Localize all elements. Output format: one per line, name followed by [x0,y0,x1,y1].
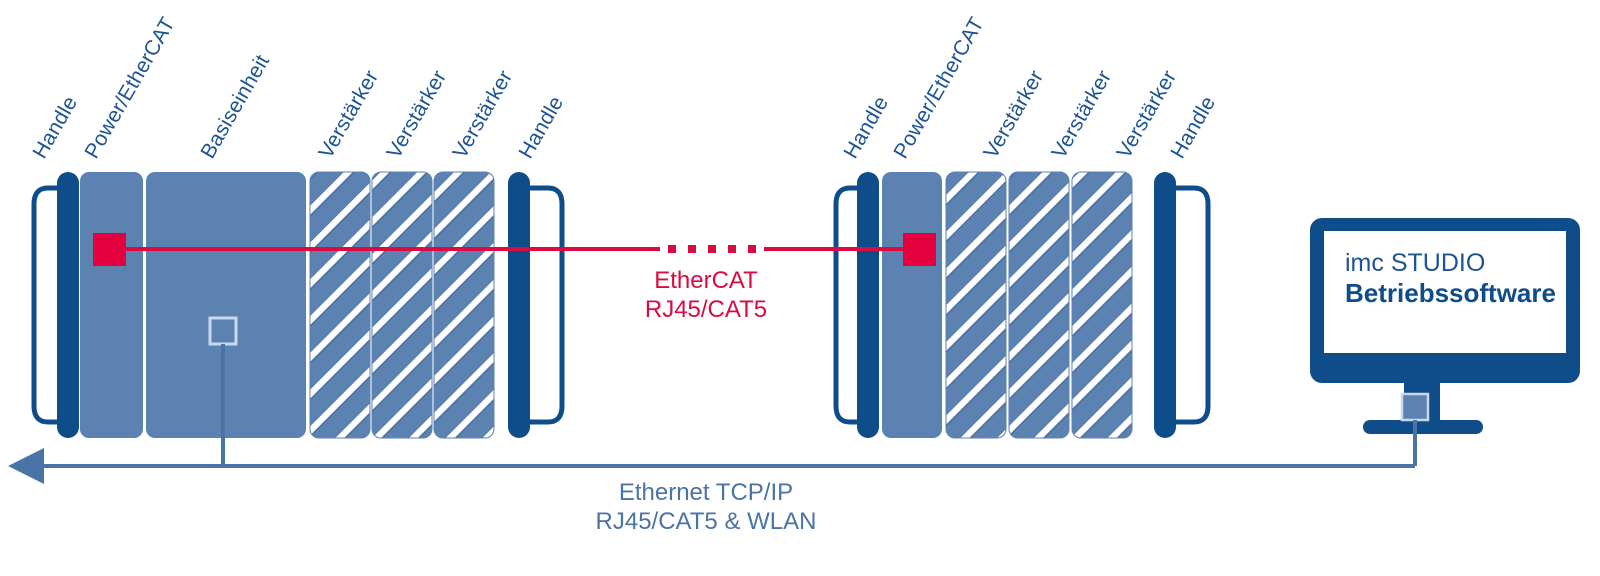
module-verstaerker-3[interactable] [1072,172,1132,438]
ethernet-label-line1: Ethernet TCP/IP [619,479,793,506]
handle-grip-loop-right [1176,188,1208,422]
module-label-power-ethercat: Power/EtherCAT [889,13,988,162]
module-label-handle: Handle [28,92,82,162]
monitor[interactable]: imc STUDIO Betriebssoftware [1310,218,1580,434]
module-label-basiseinheit: Basiseinheit [196,51,274,163]
ethercat-dot [688,245,696,253]
module-power-ethercat[interactable] [80,172,143,438]
module-label-handle: Handle [839,92,893,162]
module-verstaerker-2[interactable] [1009,172,1069,438]
ethercat-connector-right[interactable] [903,233,936,266]
handle-grip-loop-right [530,188,562,422]
module-label-handle-right: Handle [514,92,568,162]
screen-text-line1: imc STUDIO [1345,249,1485,277]
module-label-handle-right: Handle [1166,92,1220,162]
module-label-verstaerker-1: Verstärker [314,66,383,162]
handle-bar-left[interactable] [857,172,879,438]
module-verstaerker-1[interactable] [946,172,1006,438]
label-group-left-block: Handle Power/EtherCAT Basiseinheit Verst… [28,13,568,162]
module-label-verstaerker-2: Verstärker [382,66,451,162]
screen-text-line2: Betriebssoftware [1345,278,1556,308]
module-verstaerker-1[interactable] [310,172,370,438]
handle-bar-right[interactable] [1154,172,1176,438]
ethernet-label-line2: RJ45/CAT5 & WLAN [596,508,817,535]
ethercat-dot [748,245,756,253]
ethercat-connector-left[interactable] [93,233,126,266]
handle-bar-left[interactable] [57,172,79,438]
handle-bar-right[interactable] [508,172,530,438]
network-port-icon[interactable] [1402,394,1428,420]
ethernet-arrowhead-icon [8,448,44,484]
device-block-left[interactable] [34,172,562,438]
module-verstaerker-3[interactable] [434,172,494,438]
ethercat-dot [728,245,736,253]
monitor-base [1363,420,1483,434]
device-block-right[interactable] [836,172,1208,438]
ethercat-dot [668,245,676,253]
module-label-verstaerker-1: Verstärker [979,66,1048,162]
module-power-ethercat[interactable] [882,172,942,438]
module-verstaerker-2[interactable] [372,172,432,438]
label-group-right-block: Handle Power/EtherCAT Verstärker Verstär… [839,13,1220,162]
ethercat-label-line2: RJ45/CAT5 [645,296,767,323]
module-label-verstaerker-3: Verstärker [448,66,517,162]
ethercat-dot [708,245,716,253]
module-basiseinheit[interactable] [146,172,306,438]
module-label-verstaerker-2: Verstärker [1047,66,1116,162]
ethercat-label-line1: EtherCAT [654,267,758,294]
module-label-power-ethercat: Power/EtherCAT [80,13,179,162]
diagram-canvas: Handle Power/EtherCAT Basiseinheit Verst… [0,0,1600,576]
topology-svg: Handle Power/EtherCAT Basiseinheit Verst… [0,0,1600,576]
